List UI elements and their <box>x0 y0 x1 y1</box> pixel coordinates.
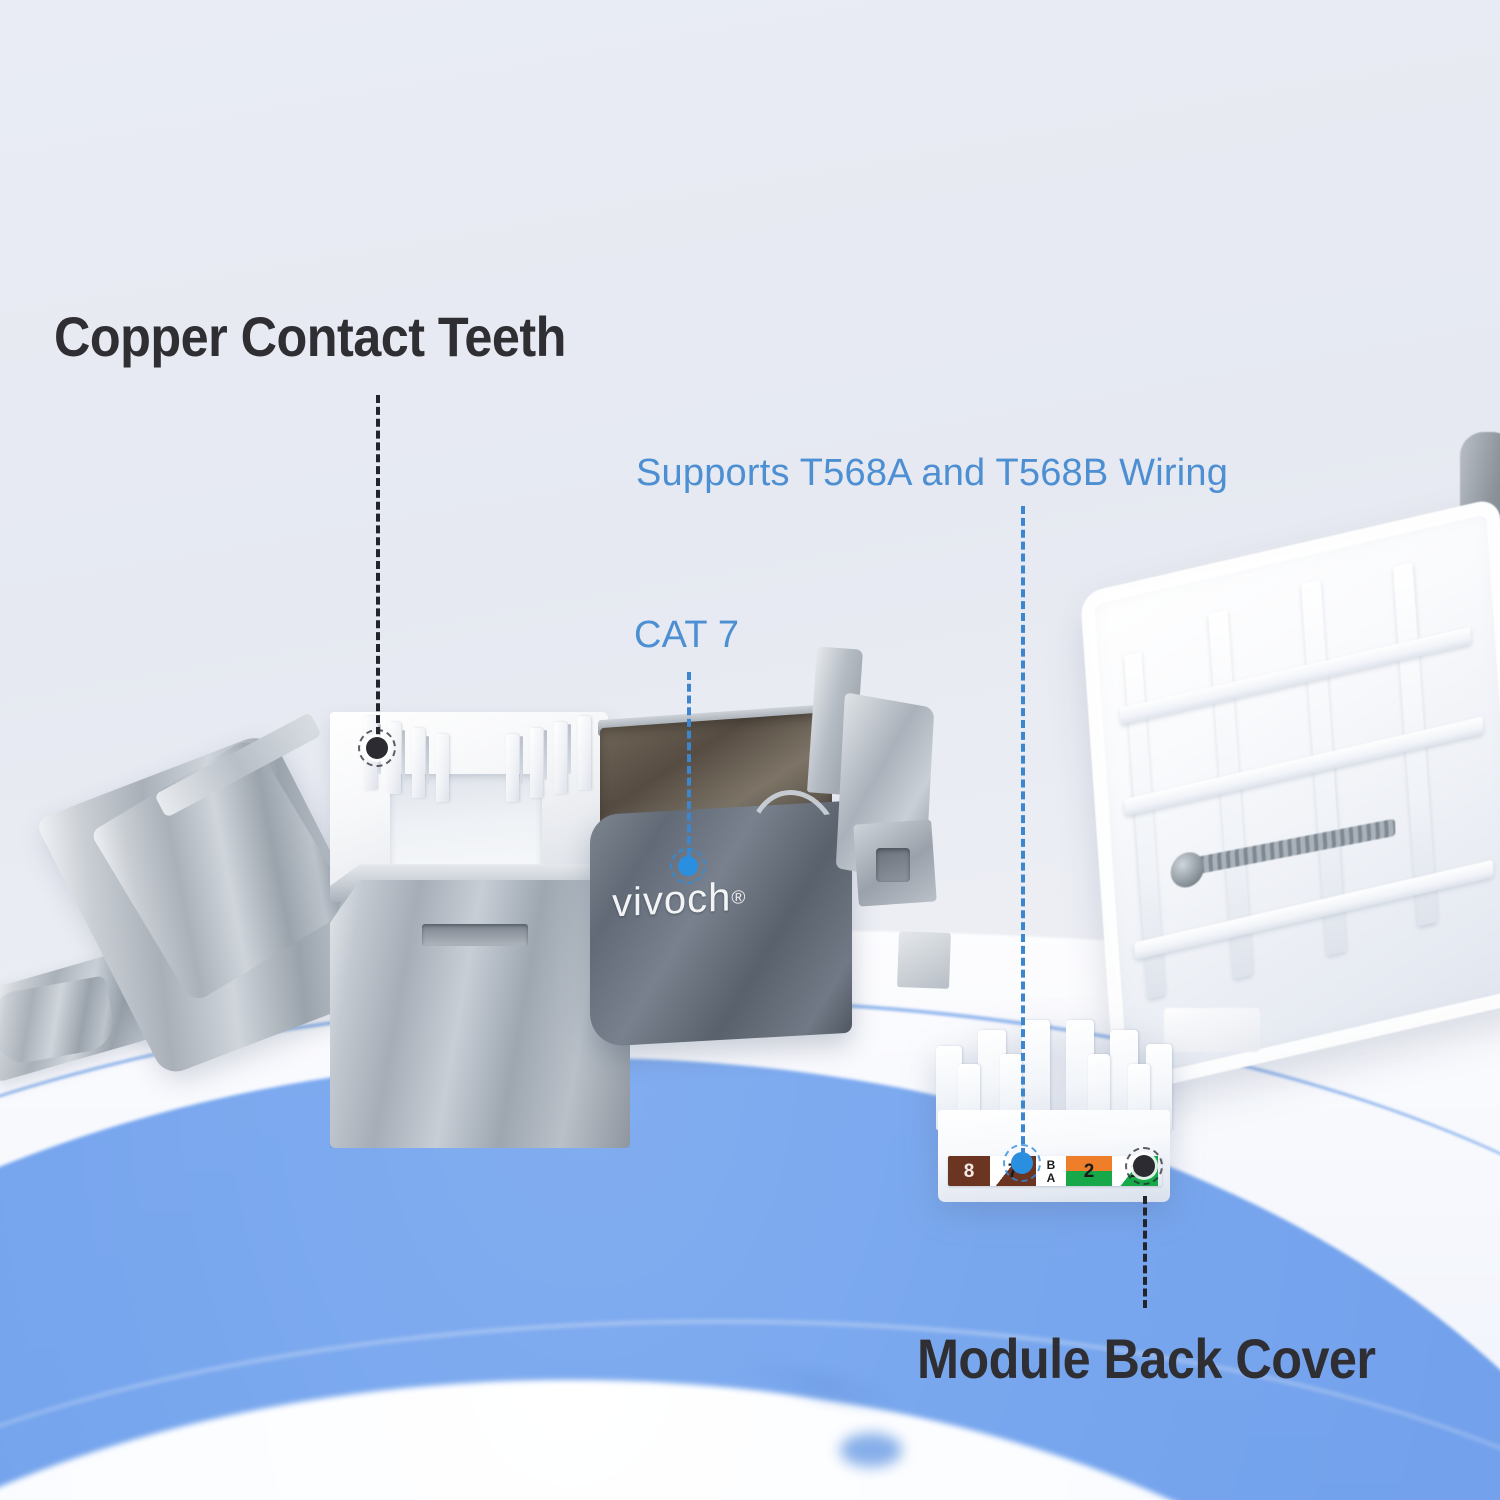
callout-module-back-cover-label: Module Back Cover <box>917 1326 1376 1391</box>
pin-number-8: 8 <box>964 1162 975 1181</box>
leader-line-module-back-cover <box>1143 1196 1147 1308</box>
wall-faceplate-rear <box>1080 497 1500 1097</box>
leader-dot-supports-wiring <box>1011 1152 1033 1174</box>
copper-contact-tooth <box>578 716 591 790</box>
t568-a-label: A <box>1047 1172 1056 1184</box>
callout-copper-contact-teeth-label: Copper Contact Teeth <box>54 304 566 369</box>
background-blur-blob <box>840 1433 902 1467</box>
shield-tab-cutout <box>876 848 910 882</box>
shield-box-slot <box>422 924 528 946</box>
leader-line-supports-wiring <box>1021 506 1025 1156</box>
contact-slot <box>426 736 429 784</box>
contact-slot <box>402 730 405 780</box>
product-infographic: vivoch® 8 7 B A 2 <box>0 0 1500 1500</box>
contact-slot <box>568 724 571 774</box>
shield-foot-right <box>897 931 951 989</box>
leader-line-category <box>687 672 691 856</box>
contact-slot <box>520 736 523 784</box>
copper-contact-tooth <box>530 728 543 798</box>
callout-supports-wiring-label: Supports T568A and T568B Wiring <box>636 452 1228 495</box>
copper-contact-tooth <box>554 722 567 794</box>
copper-contact-tooth <box>436 734 449 802</box>
copper-contact-tooth <box>412 728 425 798</box>
copper-contact-tooth <box>506 734 519 802</box>
contact-slot <box>544 730 547 780</box>
leader-dot-category <box>678 856 698 876</box>
pin-number-2: 2 <box>1084 1162 1095 1181</box>
wiring-pin-2: 2 <box>1066 1156 1112 1186</box>
shield-box-front <box>330 880 630 1148</box>
leader-dot-copper-contact-teeth <box>366 737 388 759</box>
callout-category-label: CAT 7 <box>634 614 739 657</box>
t568-b-label: B <box>1047 1159 1056 1171</box>
leader-line-copper-contact-teeth <box>376 395 380 735</box>
leader-dot-module-back-cover <box>1133 1155 1155 1177</box>
wiring-pin-8: 8 <box>948 1156 990 1186</box>
